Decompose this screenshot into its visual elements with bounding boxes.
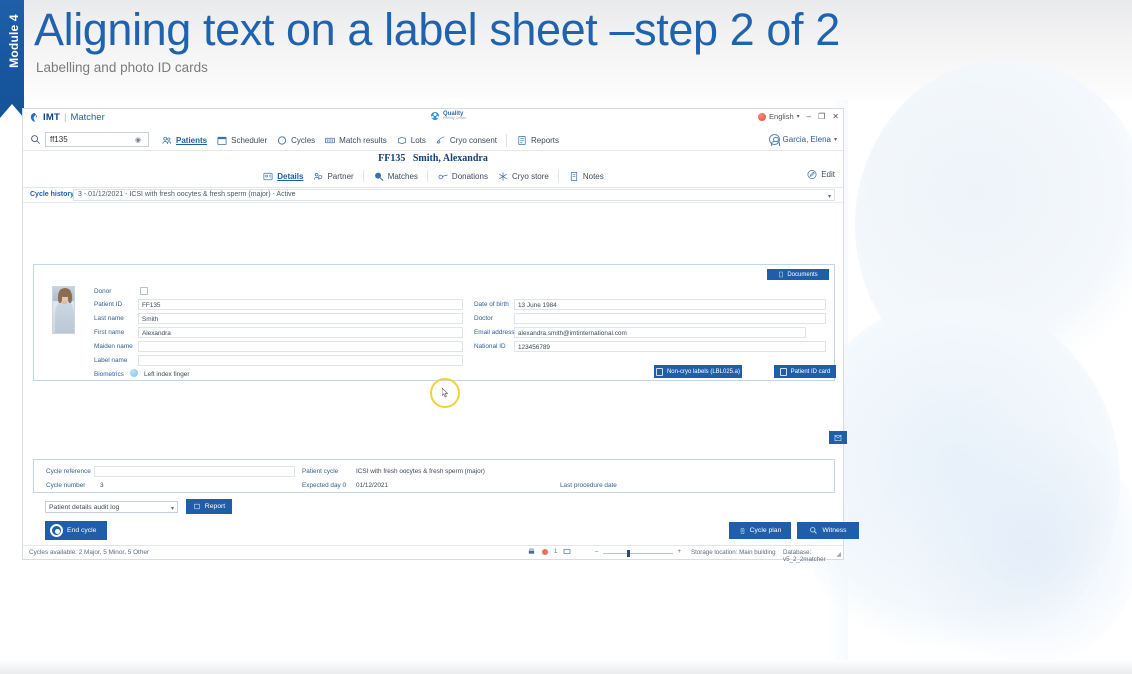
end-cycle-icon	[50, 524, 63, 537]
field-label-patient-id: Patient ID	[94, 301, 122, 308]
field-label-last-procedure-date: Last procedure date	[560, 482, 617, 489]
zoom-out-icon[interactable]: –	[595, 549, 598, 555]
report-icon	[193, 503, 201, 510]
app-brand: IMT | Matcher	[29, 112, 105, 123]
language-selector[interactable]: English ▾	[758, 112, 800, 121]
edit-button[interactable]: Edit	[806, 169, 835, 180]
non-cryo-labels-label: Non-cryo labels (LBL025.a)	[667, 369, 740, 375]
brand-imt-text: IMT	[43, 112, 60, 123]
field-label-donor: Donor	[94, 288, 111, 295]
nav-label-lots: Lots	[411, 136, 426, 145]
matches-icon	[373, 171, 385, 182]
last-name-value: Smith	[142, 316, 158, 323]
tab-donations[interactable]: Donations	[437, 171, 488, 182]
tab-partner[interactable]: Partner	[312, 171, 353, 182]
chevron-down-icon: ▾	[171, 505, 174, 512]
patient-id-value: FF135	[142, 302, 160, 309]
field-label-last-name: Last name	[94, 315, 124, 322]
patient-id-input[interactable]: FF135	[138, 299, 463, 310]
module-ribbon-tail	[0, 104, 24, 118]
witness-search-icon	[809, 526, 818, 535]
cryo-store-icon	[497, 171, 509, 182]
tab-label-partner: Partner	[327, 172, 353, 181]
app-navigation-bar: ff135 ◉ Patients Scheduler	[23, 129, 843, 151]
date-of-birth-input[interactable]: 13 June 1984	[514, 299, 826, 310]
field-label-email-address: Email address	[474, 329, 515, 336]
monitor-icon	[563, 548, 571, 556]
email-address-value: alexandra.smith@imtinternational.com	[518, 330, 627, 337]
nav-item-match-results[interactable]: Match results	[324, 135, 387, 146]
brand-separator: |	[64, 112, 66, 123]
status-bar-icons: 1	[527, 548, 571, 556]
resize-grip-icon[interactable]: ◢	[836, 551, 841, 558]
minimize-button[interactable]: –	[807, 112, 811, 121]
search-input[interactable]: ff135	[45, 132, 149, 147]
donor-checkbox[interactable]	[140, 287, 148, 295]
tab-label-donations: Donations	[452, 172, 488, 181]
cryo-consent-icon	[435, 135, 447, 146]
national-id-value: 123456789	[518, 344, 550, 351]
nav-divider	[506, 134, 507, 147]
nav-item-patients[interactable]: Patients	[161, 135, 207, 146]
nav-label-patients: Patients	[176, 136, 207, 145]
end-cycle-label: End cycle	[67, 527, 96, 534]
cycle-history-row: Cycle history 3 - 01/12/2021 - ICSI with…	[23, 188, 843, 203]
lots-icon	[396, 135, 408, 146]
audit-log-select[interactable]: Patient details audit log ▾	[45, 501, 178, 513]
field-label-biometrics: Biometrics	[94, 371, 124, 378]
brand-matcher-text: Matcher	[70, 112, 104, 123]
patient-id-card-button[interactable]: Patient ID card	[774, 365, 836, 378]
cycles-available-text: Cycles available: 2 Major, 5 Minor, 5 Ot…	[29, 549, 149, 556]
nav-item-scheduler[interactable]: Scheduler	[216, 135, 267, 146]
nav-label-reports: Reports	[531, 136, 559, 145]
label-name-input[interactable]	[138, 355, 463, 366]
nav-item-reports[interactable]: Reports	[516, 135, 559, 146]
edit-pencil-icon	[806, 169, 818, 180]
watermark-shape-3	[900, 420, 1132, 670]
cycle-plan-button[interactable]: Cycle plan	[729, 522, 791, 539]
search-input-value: ff135	[50, 135, 68, 144]
send-email-icon	[833, 434, 843, 442]
tab-matches[interactable]: Matches	[373, 171, 418, 182]
match-results-icon	[324, 135, 336, 146]
label-sheet-icon	[656, 368, 663, 376]
biometrics-status-icon	[130, 369, 138, 377]
documents-button[interactable]: Documents	[767, 269, 829, 280]
nav-label-cryo-consent: Cryo consent	[450, 136, 497, 145]
national-id-input[interactable]: 123456789	[514, 341, 826, 352]
tab-divider	[558, 170, 559, 182]
patient-id-card-label: Patient ID card	[791, 369, 831, 375]
tab-notes[interactable]: Notes	[568, 171, 604, 182]
cycle-history-label: Cycle history	[30, 191, 74, 198]
language-label: English	[769, 112, 794, 121]
chevron-down-icon: ▾	[797, 113, 800, 120]
tab-label-details: Details	[277, 172, 303, 181]
close-button[interactable]: ✕	[832, 112, 839, 121]
cycle-plan-label: Cycle plan	[750, 527, 782, 534]
witness-button[interactable]: Witness	[797, 522, 859, 539]
user-avatar-icon	[769, 134, 780, 145]
email-address-input[interactable]: alexandra.smith@imtinternational.com	[514, 327, 806, 338]
patient-name: Smith, Alexandra	[413, 153, 488, 164]
app-titlebar: IMT | Matcher Quality Fertility Centre E…	[23, 109, 843, 129]
user-name: Garcia, Elena	[783, 135, 831, 144]
status-count: 1	[554, 549, 557, 555]
date-of-birth-value: 13 June 1984	[518, 302, 557, 309]
patient-photo	[52, 286, 75, 334]
end-cycle-button[interactable]: End cycle	[45, 521, 107, 540]
field-label-national-id: National ID	[474, 343, 506, 350]
quality-logo: Quality Fertility Centre	[429, 110, 466, 122]
cycle-details-card: Cycle reference Cycle number 3 Patient c…	[33, 459, 835, 493]
chevron-down-icon: ▾	[834, 136, 837, 143]
biometrics-value: Left index finger	[144, 371, 189, 378]
database-text: Database: v5_2_2matcher	[783, 549, 843, 563]
maiden-name-input[interactable]	[138, 341, 463, 352]
field-label-expected-day-0: Expected day 0	[302, 482, 346, 489]
storage-location-text: Storage location: Main building	[691, 549, 776, 556]
tab-label-cryo-store: Cryo store	[512, 172, 549, 181]
calendar-icon	[216, 135, 228, 146]
cycle-plan-icon	[739, 526, 746, 536]
chevron-down-icon: ▾	[828, 193, 831, 200]
patient-cycle-value: ICSI with fresh oocytes & fresh sperm (m…	[356, 468, 485, 475]
imt-matcher-window: IMT | Matcher Quality Fertility Centre E…	[22, 108, 844, 560]
non-cryo-labels-button[interactable]: Non-cryo labels (LBL025.a)	[654, 365, 742, 378]
report-button-label: Report	[205, 503, 225, 510]
printer-icon[interactable]	[527, 548, 536, 556]
quality-logo-line2: Fertility Centre	[443, 117, 466, 121]
doctor-input[interactable]	[514, 313, 826, 324]
restore-button[interactable]: ❐	[818, 112, 825, 121]
tab-divider	[363, 170, 364, 182]
nav-item-cycles[interactable]: Cycles	[276, 135, 315, 146]
status-bar: Cycles available: 2 Major, 5 Minor, 5 Ot…	[23, 545, 843, 559]
field-label-first-name: First name	[94, 329, 124, 336]
photo-hair-left	[58, 292, 62, 303]
cycle-number-value: 3	[100, 482, 104, 489]
slide-title: Aligning text on a label sheet –step 2 o…	[34, 4, 840, 56]
reports-icon	[516, 135, 528, 146]
alert-dot-icon[interactable]	[542, 549, 548, 555]
zoom-slider[interactable]: – +	[595, 550, 681, 557]
patients-icon	[161, 135, 173, 146]
notes-icon	[568, 171, 580, 182]
search-clear-icon[interactable]: ◉	[135, 136, 141, 144]
photo-body	[55, 301, 74, 334]
tab-cryo-store[interactable]: Cryo store	[497, 171, 549, 182]
nav-label-scheduler: Scheduler	[231, 136, 267, 145]
tab-label-matches: Matches	[388, 172, 418, 181]
language-globe-icon	[758, 113, 766, 121]
tab-label-notes: Notes	[583, 172, 604, 181]
module-ribbon: Module 4	[0, 0, 24, 104]
main-nav: Patients Scheduler Cycles	[161, 129, 559, 151]
patient-tabs: Details Partner Matches Donations	[23, 167, 843, 185]
witness-label: Witness	[822, 527, 846, 534]
field-label-cycle-reference: Cycle reference	[46, 468, 91, 475]
last-name-input[interactable]: Smith	[138, 313, 463, 324]
quality-logo-text: Quality Fertility Centre	[443, 111, 466, 121]
photo-hair-right	[68, 292, 72, 303]
expected-day-0-value: 01/12/2021	[356, 482, 388, 489]
patient-details-card: Documents Donor Patient ID FF135 Last na…	[33, 264, 835, 381]
report-button[interactable]: Report	[186, 499, 232, 514]
search-icon[interactable]	[30, 134, 41, 145]
field-label-cycle-number: Cycle number	[46, 482, 85, 489]
field-label-label-name: Label name	[94, 357, 127, 364]
cycle-reference-input[interactable]	[94, 466, 295, 477]
mouse-pointer-icon	[442, 388, 449, 398]
first-name-value: Alexandra	[142, 330, 171, 337]
zoom-slider-handle[interactable]	[627, 550, 630, 557]
field-label-doctor: Doctor	[474, 315, 493, 322]
quality-badge-icon	[429, 110, 441, 122]
tab-divider	[427, 170, 428, 182]
partner-icon	[312, 171, 324, 182]
nav-item-cryo-consent[interactable]: Cryo consent	[435, 135, 497, 146]
audit-log-value: Patient details audit log	[49, 504, 119, 511]
patient-id: FF135	[378, 153, 405, 164]
cycle-history-select[interactable]: 3 - 01/12/2021 - ICSI with fresh oocytes…	[73, 189, 835, 201]
slide-subtitle: Labelling and photo ID cards	[36, 60, 208, 75]
slide-bottom-gradient	[0, 660, 1132, 674]
field-label-date-of-birth: Date of birth	[474, 301, 509, 308]
nav-label-match-results: Match results	[339, 136, 387, 145]
patient-header: FF135 Smith, Alexandra	[23, 153, 843, 164]
cycle-history-value: 3 - 01/12/2021 - ICSI with fresh oocytes…	[78, 191, 295, 198]
zoom-in-icon[interactable]: +	[677, 549, 681, 555]
window-controls: English ▾ – ❐ ✕	[758, 112, 839, 121]
document-icon	[778, 271, 784, 278]
nav-item-lots[interactable]: Lots	[396, 135, 426, 146]
user-menu[interactable]: Garcia, Elena ▾	[769, 134, 837, 145]
first-name-input[interactable]: Alexandra	[138, 327, 463, 338]
field-label-maiden-name: Maiden name	[94, 343, 133, 350]
donations-icon	[437, 171, 449, 182]
edit-button-label: Edit	[821, 170, 835, 179]
module-ribbon-label: Module 4	[3, 5, 25, 77]
nav-label-cycles: Cycles	[291, 136, 315, 145]
details-icon	[262, 171, 274, 182]
zoom-slider-track[interactable]	[603, 553, 673, 554]
send-email-button[interactable]	[829, 431, 847, 444]
id-card-icon	[780, 368, 787, 376]
tab-details[interactable]: Details	[262, 171, 303, 182]
field-label-patient-cycle: Patient cycle	[302, 468, 338, 475]
cycles-icon	[276, 135, 288, 146]
imt-logo-icon	[29, 112, 40, 123]
documents-button-label: Documents	[787, 272, 817, 278]
